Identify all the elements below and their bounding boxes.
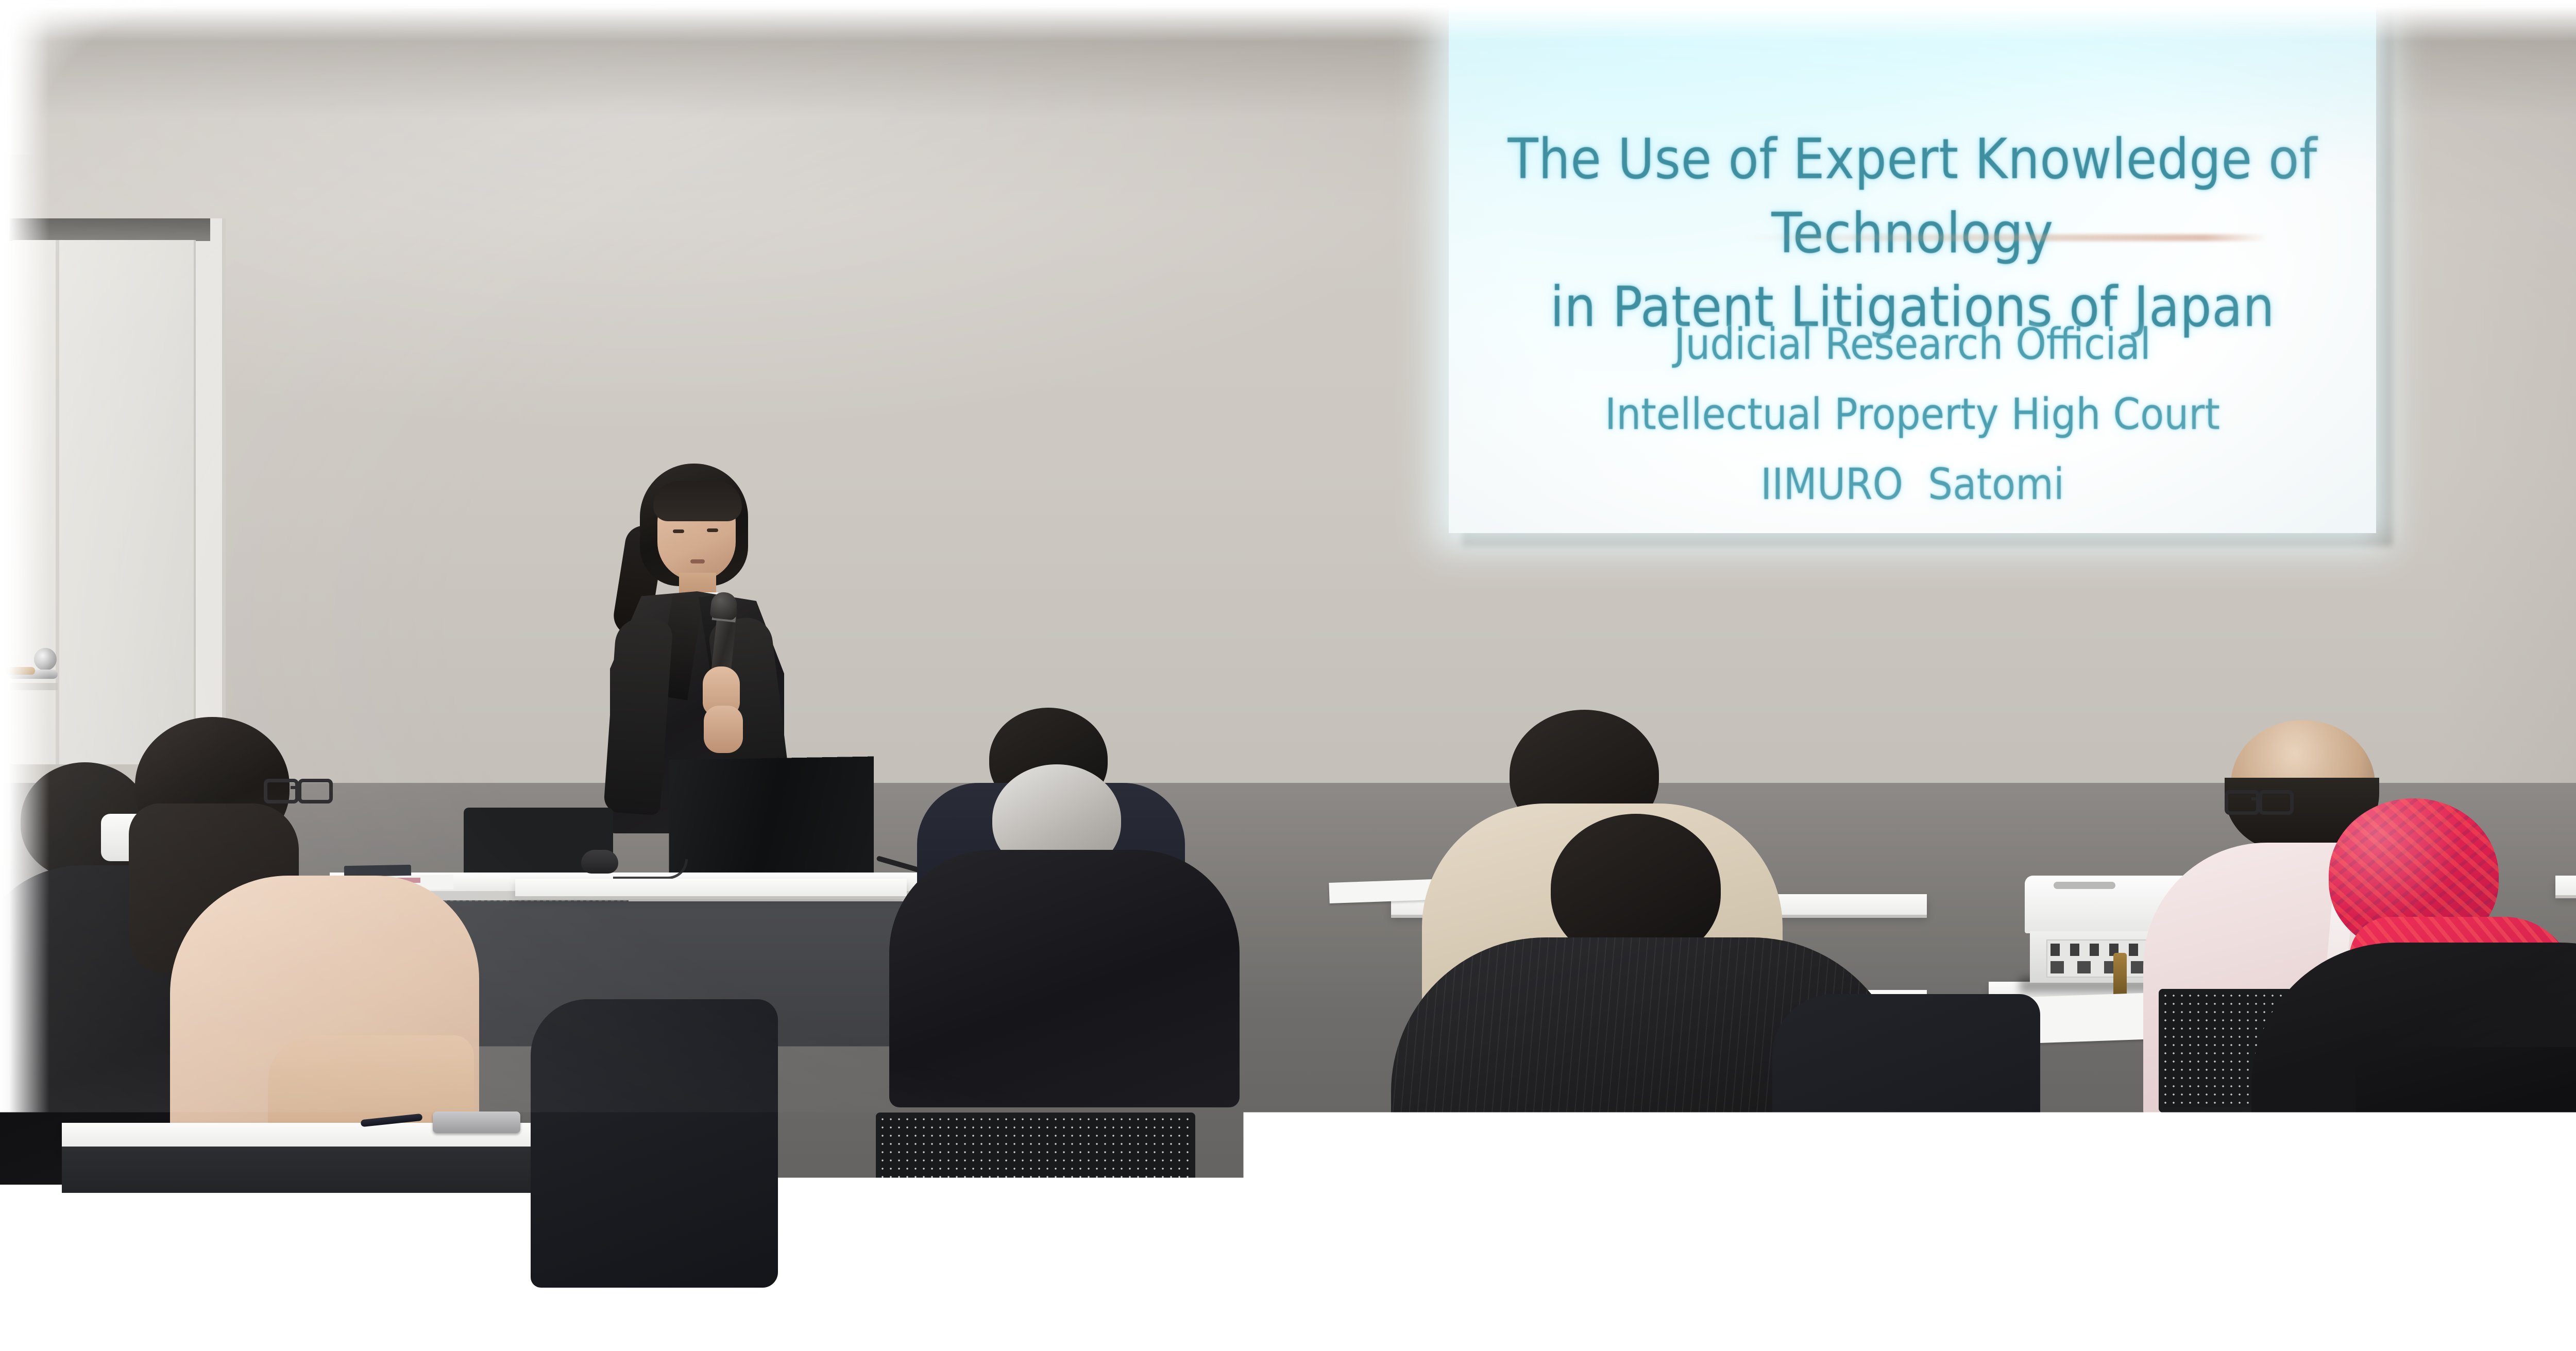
smartphone-left[interactable] <box>433 1111 520 1133</box>
projector-power-plug <box>2113 953 2127 997</box>
desk-foreground-centre-right <box>1814 1236 2164 1267</box>
presenter-hand-lower <box>704 706 743 753</box>
projector-vent <box>2054 882 2115 889</box>
door-handle-wood-grip <box>5 667 35 675</box>
table-microphone-front[interactable] <box>814 1235 891 1267</box>
presenter-eye-left <box>673 529 684 533</box>
desk-extreme-foreground-left <box>0 1222 350 1255</box>
presenter-mouth <box>690 559 705 563</box>
door-header-panel <box>9 218 210 241</box>
presenter-eye-right <box>707 528 718 532</box>
nec-laptop-lid[interactable]: NEC <box>669 757 874 888</box>
screen-edge-falloff <box>1449 0 2376 533</box>
door-handle-plate <box>6 683 58 690</box>
desk-foreground-left <box>0 1252 361 1282</box>
attendee-grey-hair-person-jacket <box>889 850 1240 1107</box>
chair-foreground-right[interactable] <box>2514 1298 2576 1351</box>
black-bag-foreground <box>943 1257 1303 1351</box>
seminar-room-photo: The Use of Expert Knowledge of Technolog… <box>0 0 2576 1351</box>
projection-screen: The Use of Expert Knowledge of Technolog… <box>1449 0 2376 533</box>
wall-right-shading <box>2439 0 2576 803</box>
photograph-canvas: The Use of Expert Knowledge of Technolog… <box>0 0 2576 1351</box>
desk-foreground-puffer-row <box>2241 1231 2576 1261</box>
desk-row-back-left <box>515 879 907 896</box>
black-coat-on-chair-left <box>531 999 778 1288</box>
desk-row-back-right <box>2555 876 2576 895</box>
presenter-fringe <box>653 481 742 521</box>
chair-grey-hair-person[interactable] <box>876 1113 1195 1246</box>
door-lock-rose <box>34 648 57 671</box>
